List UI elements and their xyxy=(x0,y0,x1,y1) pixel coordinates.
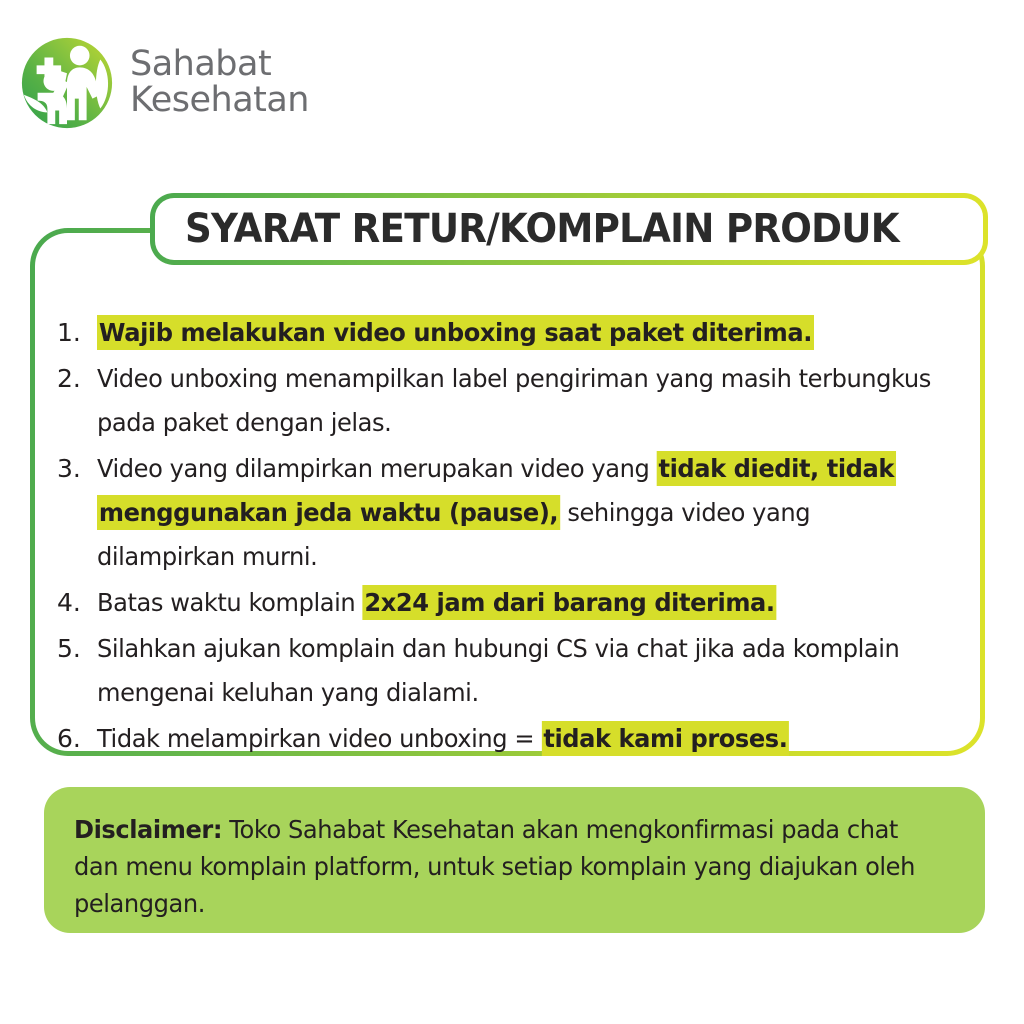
term-item: 2.Video unboxing menampilkan label pengi… xyxy=(57,357,966,445)
card-title-badge: SYARAT RETUR/KOMPLAIN PRODUK xyxy=(150,193,988,265)
term-item: 6.Tidak melampirkan video unboxing = tid… xyxy=(57,717,966,761)
brand-name-line1: Sahabat xyxy=(130,47,309,83)
term-text: Batas waktu komplain 2x24 jam dari baran… xyxy=(97,581,936,625)
plain-text: Tidak melampirkan video unboxing = xyxy=(97,724,541,753)
brand-header: Sahabat Kesehatan xyxy=(18,28,438,138)
term-text: Video yang dilampirkan merupakan video y… xyxy=(97,447,936,579)
brand-name-line2: Kesehatan xyxy=(130,83,309,119)
disclaimer-text: Disclaimer: Toko Sahabat Kesehatan akan … xyxy=(74,811,924,922)
highlighted-text: 2x24 jam dari barang diterima. xyxy=(362,585,776,620)
disclaimer-label: Disclaimer: xyxy=(74,815,222,844)
term-item: 4.Batas waktu komplain 2x24 jam dari bar… xyxy=(57,581,966,625)
term-number: 4. xyxy=(57,581,97,625)
brand-wordmark: Sahabat Kesehatan xyxy=(130,47,309,118)
plain-text: Video yang dilampirkan merupakan video y… xyxy=(97,454,657,483)
plain-text: Batas waktu komplain xyxy=(97,588,362,617)
term-number: 3. xyxy=(57,447,97,491)
highlighted-text: Wajib melakukan video unboxing saat pake… xyxy=(97,315,814,350)
term-text: Silahkan ajukan komplain dan hubungi CS … xyxy=(97,627,936,715)
term-number: 2. xyxy=(57,357,97,401)
plain-text: Video unboxing menampilkan label pengiri… xyxy=(97,364,931,437)
term-item: 3.Video yang dilampirkan merupakan video… xyxy=(57,447,966,579)
disclaimer-box: Disclaimer: Toko Sahabat Kesehatan akan … xyxy=(44,787,985,933)
term-number: 6. xyxy=(57,717,97,761)
page-title: SYARAT RETUR/KOMPLAIN PRODUK xyxy=(185,206,899,252)
term-item: 5.Silahkan ajukan komplain dan hubungi C… xyxy=(57,627,966,715)
terms-card: 1.Wajib melakukan video unboxing saat pa… xyxy=(30,228,985,756)
term-number: 5. xyxy=(57,627,97,671)
highlighted-text: tidak kami proses. xyxy=(541,721,789,756)
term-text: Tidak melampirkan video unboxing = tidak… xyxy=(97,717,936,761)
term-number: 1. xyxy=(57,311,97,355)
term-item: 1.Wajib melakukan video unboxing saat pa… xyxy=(57,311,966,355)
term-text: Video unboxing menampilkan label pengiri… xyxy=(97,357,936,445)
term-text: Wajib melakukan video unboxing saat pake… xyxy=(97,311,936,355)
sahabat-kesehatan-logo-icon xyxy=(18,34,116,132)
plain-text: Silahkan ajukan komplain dan hubungi CS … xyxy=(97,634,899,707)
terms-list: 1.Wajib melakukan video unboxing saat pa… xyxy=(57,311,966,763)
